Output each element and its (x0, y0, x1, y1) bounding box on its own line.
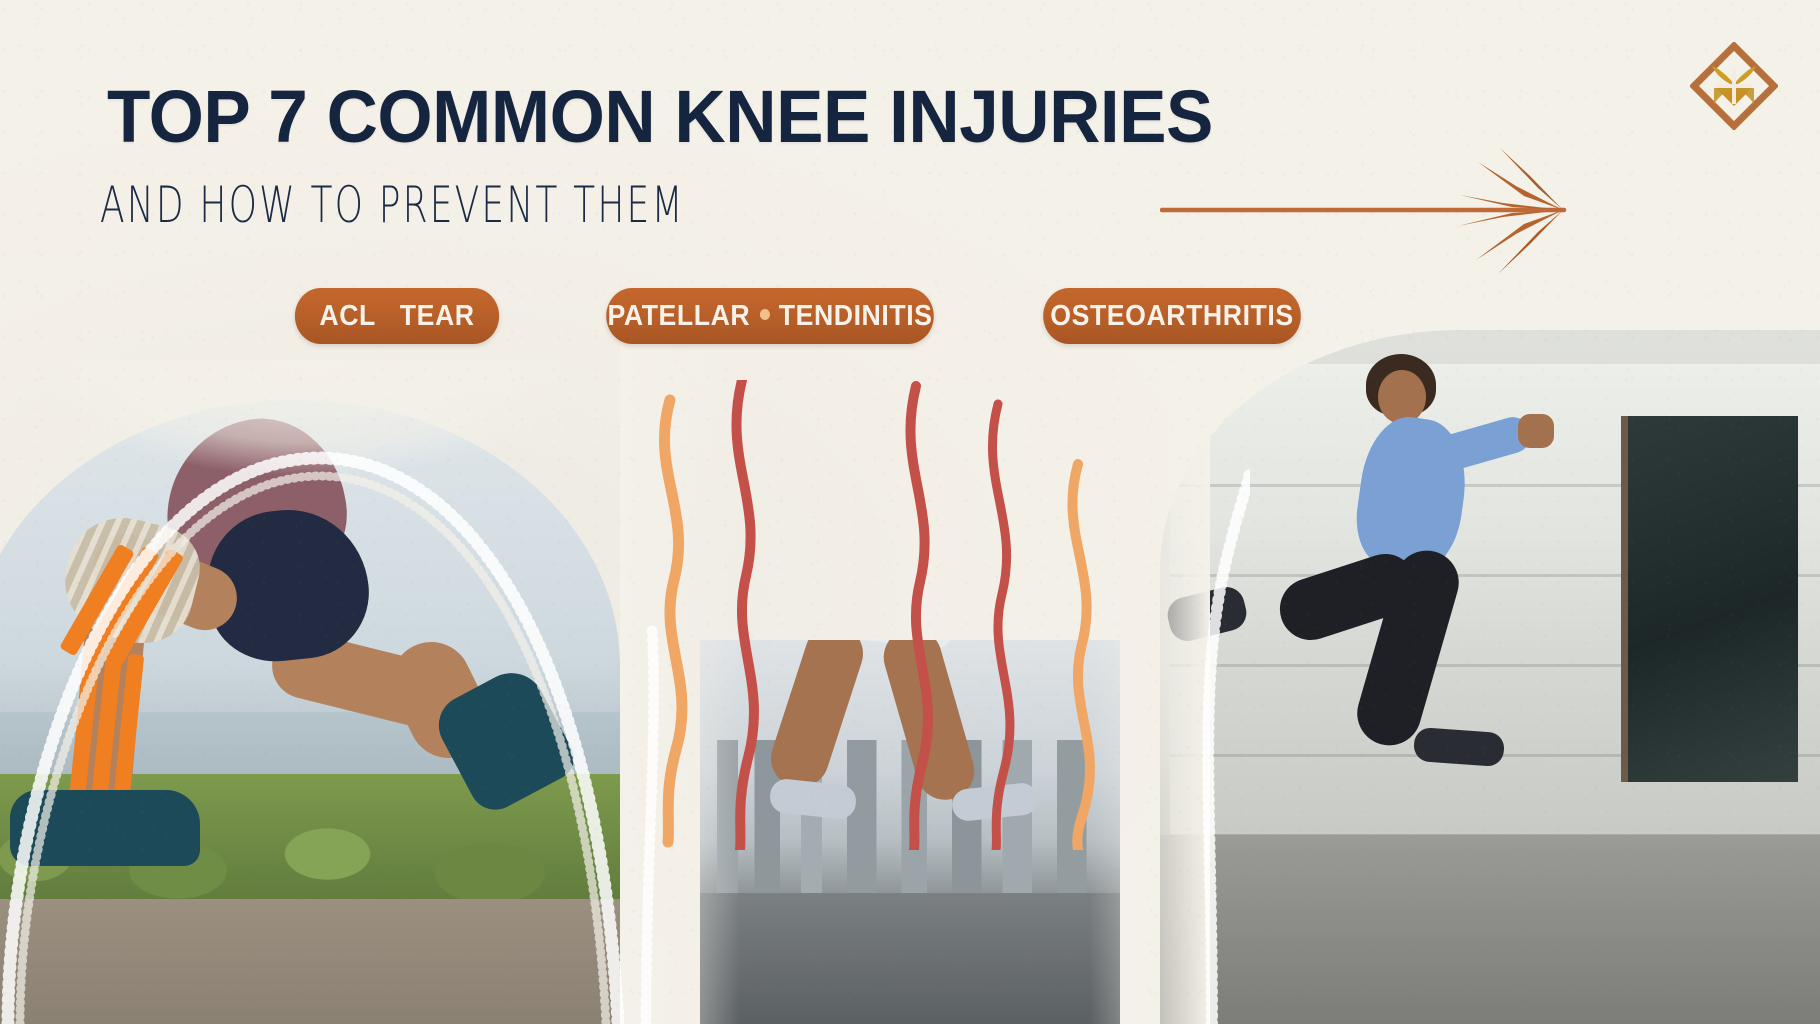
badge-label-start: ACL (319, 300, 375, 333)
sprinter-hand (1518, 414, 1554, 448)
badge-label-start: PATELLAR (607, 300, 750, 333)
badge-label-start: OSTEOARTHRITIS (1050, 300, 1293, 333)
badge-patellar-tendinitis[interactable]: PATELLAR TENDINITIS (606, 288, 934, 344)
sprinter-head (1378, 370, 1426, 424)
rooftop-surface (700, 893, 1120, 1024)
badge-label-end: TENDINITIS (779, 300, 933, 333)
diamond-leaf-logo-icon (1690, 42, 1778, 130)
sprinter-shoe-front (1413, 727, 1505, 767)
badge-label-end: TEAR (400, 300, 475, 333)
arrow-right-fletched-icon (1160, 140, 1590, 280)
badge-acl-tear[interactable]: ACL TEAR (295, 288, 499, 344)
badge-osteoarthritis[interactable]: OSTEOARTHRITIS (1043, 288, 1301, 344)
page-title: TOP 7 COMMON KNEE INJURIES (107, 74, 1213, 159)
pathway (0, 899, 620, 1024)
badge-separator-dot-icon (759, 309, 769, 320)
decorative-waves (630, 380, 1130, 850)
photo-runner-sprint-start (1160, 330, 1820, 1024)
building-window (1621, 416, 1798, 782)
sidewalk (1160, 835, 1820, 1024)
running-shoe-front (10, 790, 200, 866)
page-subtitle: AND HOW TO PREVENT THEM (100, 176, 685, 234)
photo-runner-kinesio-tape (0, 400, 620, 1024)
infographic-canvas: TOP 7 COMMON KNEE INJURIES AND HOW TO PR… (0, 0, 1820, 1024)
